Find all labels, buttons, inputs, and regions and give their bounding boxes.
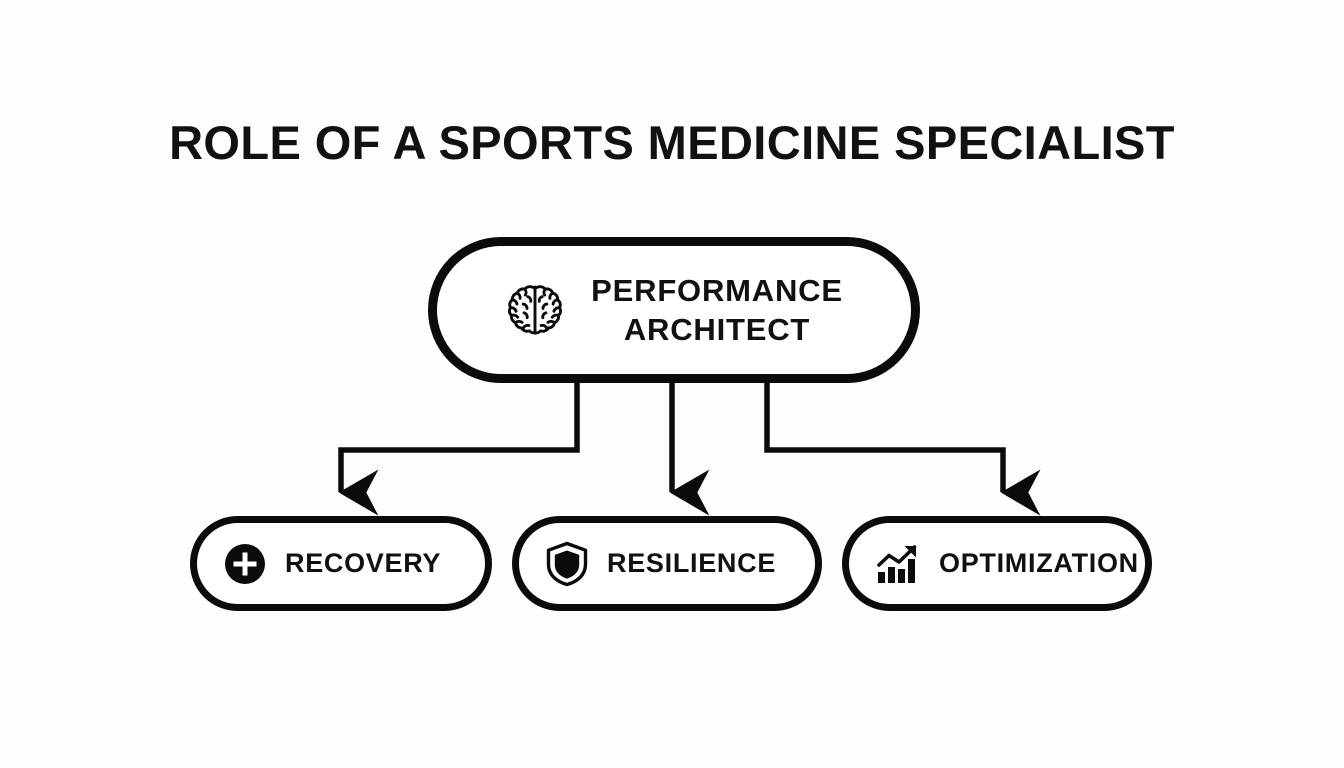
shield-icon [545,541,589,587]
brain-icon [505,280,565,340]
connector-to-recovery [341,382,577,492]
page-title: ROLE OF A SPORTS MEDICINE SPECIALIST [0,112,1344,174]
child-node-resilience[interactable]: RESILIENCE [512,516,822,611]
child-node-recovery[interactable]: RECOVERY [190,516,492,611]
child-node-optimization[interactable]: OPTIMIZATION [842,516,1152,611]
connector-to-optimization [767,382,1003,492]
bar-chart-growth-icon [875,542,921,586]
child-node-label-recovery: RECOVERY [285,548,441,579]
child-node-label-optimization: OPTIMIZATION [939,548,1139,579]
root-node-performance-architect[interactable]: PERFORMANCE ARCHITECT [428,237,920,383]
plus-circle-icon [223,542,267,586]
root-node-label: PERFORMANCE ARCHITECT [591,271,843,349]
child-node-label-resilience: RESILIENCE [607,548,776,579]
diagram-canvas: ROLE OF A SPORTS MEDICINE SPECIALIST [0,0,1344,768]
